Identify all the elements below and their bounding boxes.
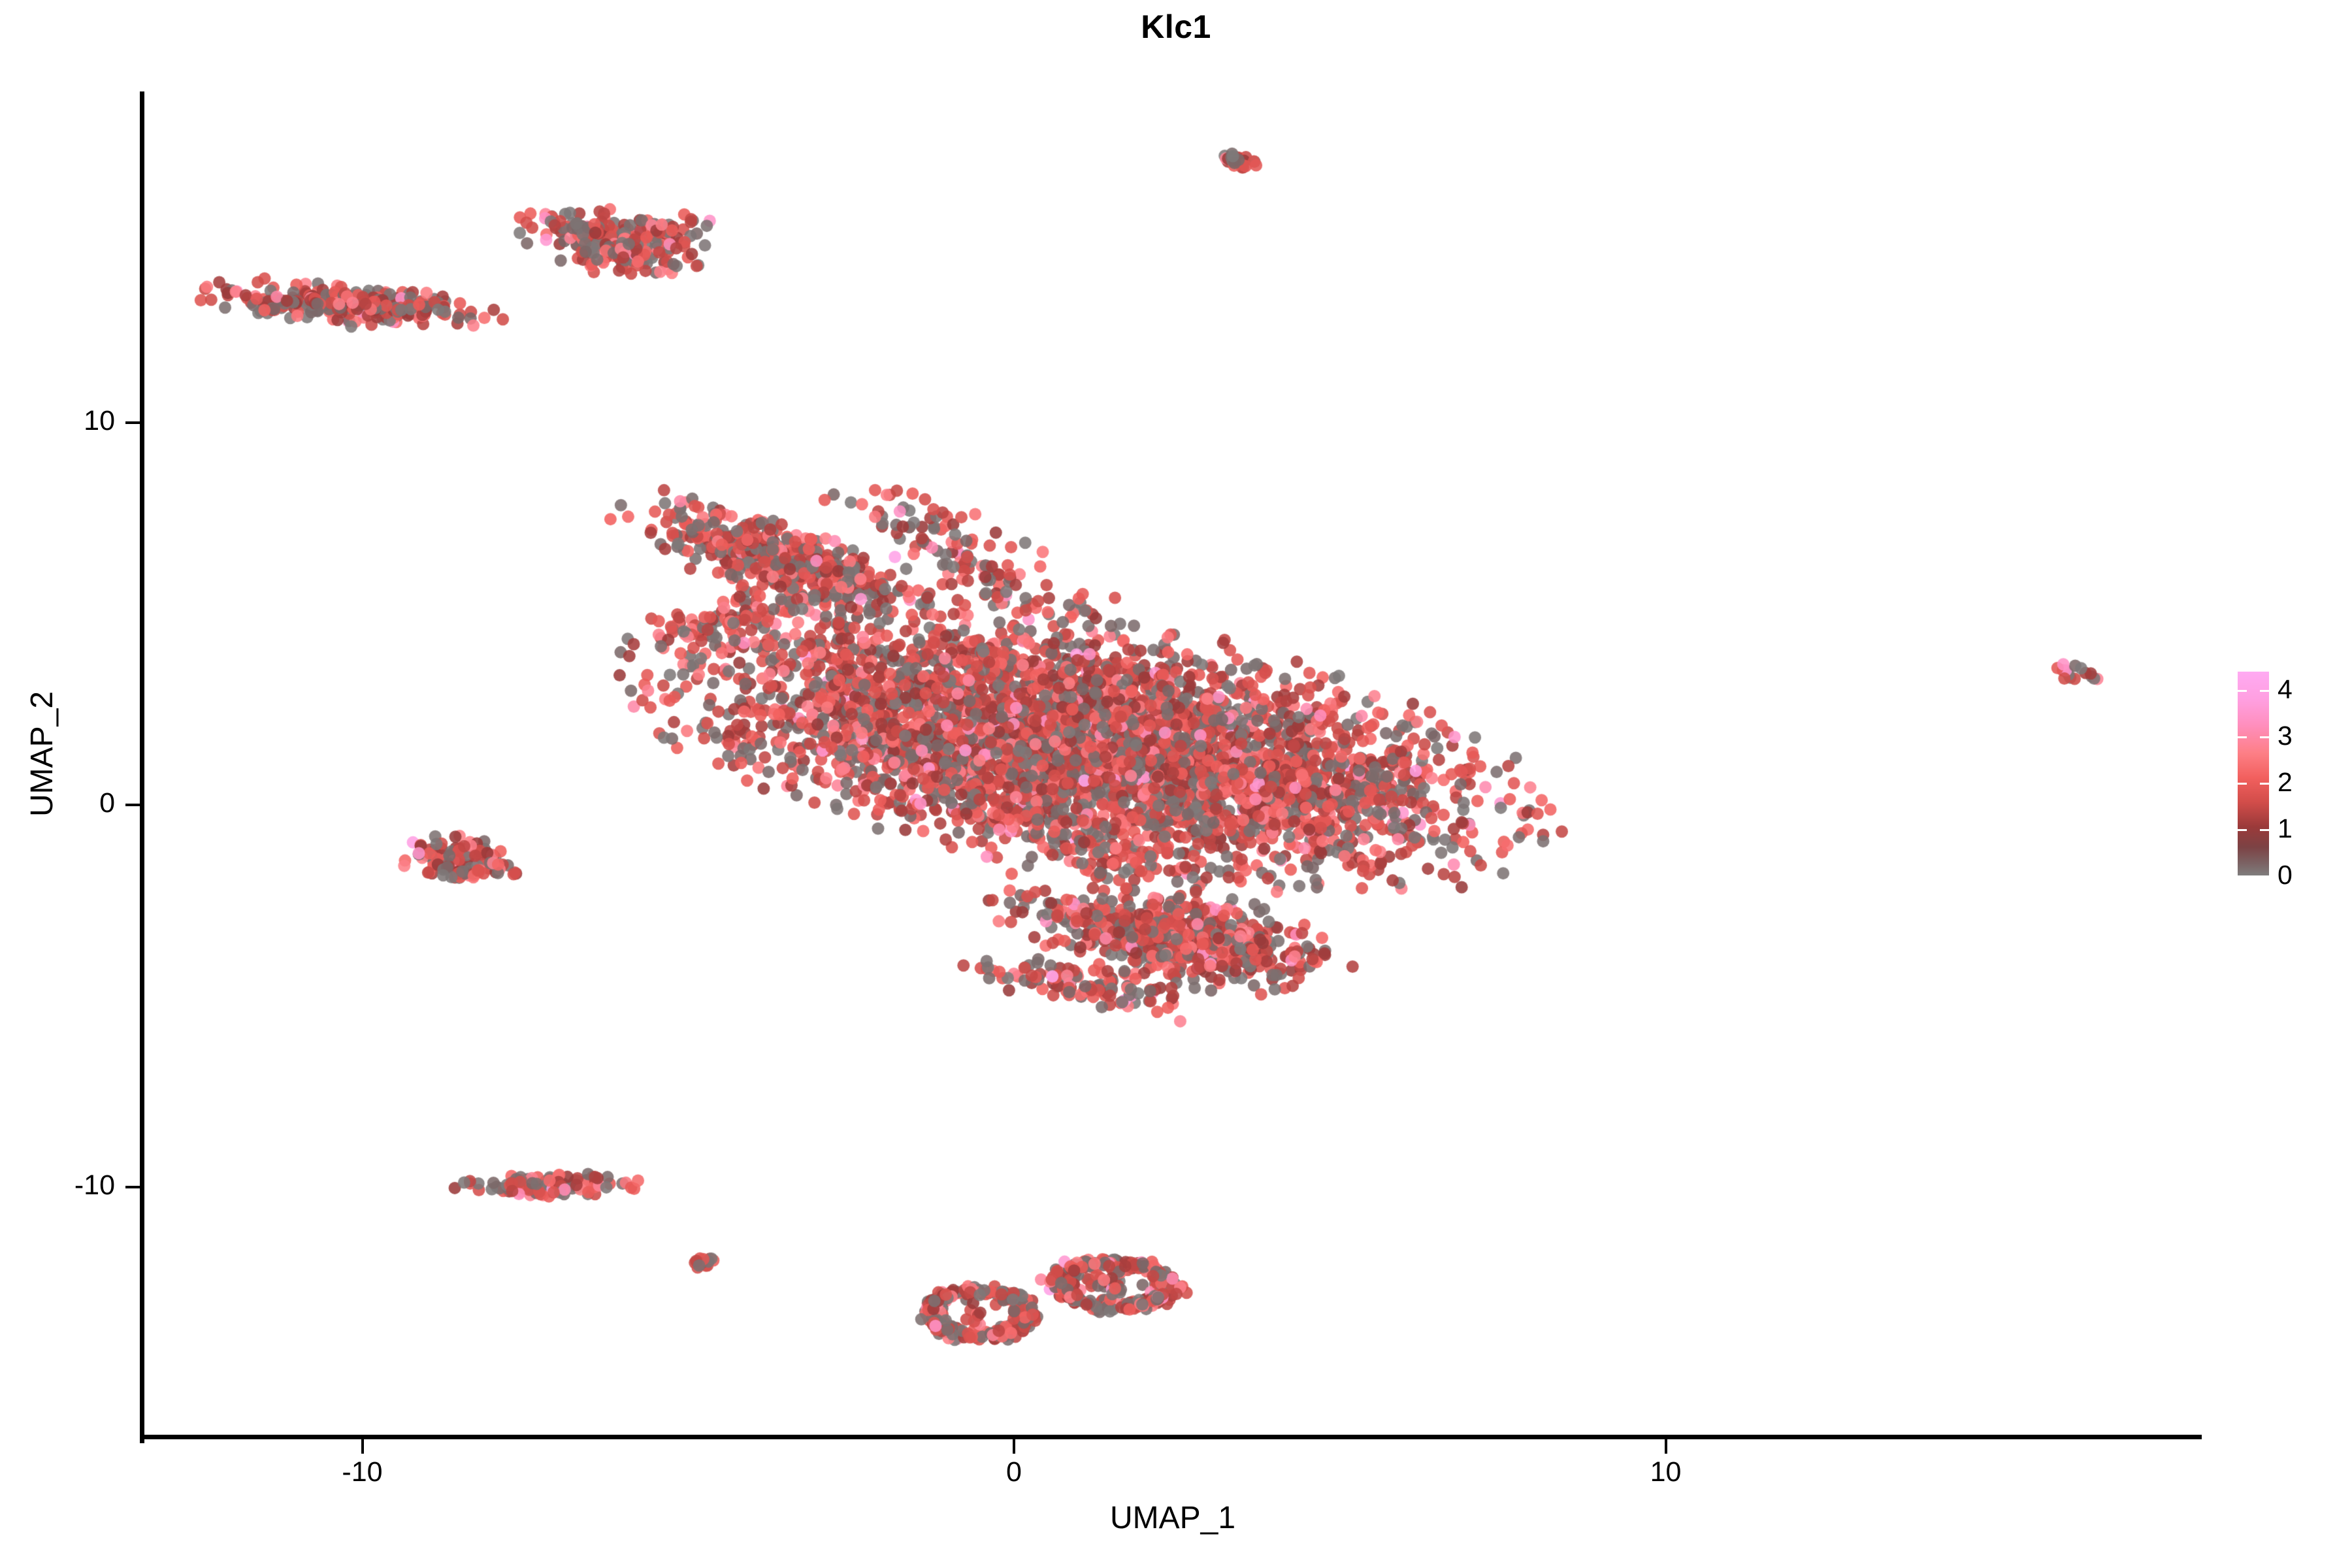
legend-tick-mark bbox=[2238, 690, 2247, 692]
plot-panel bbox=[144, 91, 2202, 1439]
legend-label: 0 bbox=[2278, 862, 2330, 889]
legend-label: 3 bbox=[2278, 723, 2330, 749]
y-tick-mark bbox=[125, 421, 140, 424]
legend-colorbar bbox=[2238, 672, 2269, 875]
legend-tick-mark bbox=[2238, 736, 2247, 738]
legend-tick-mark bbox=[2238, 875, 2247, 877]
legend-tick-mark bbox=[2260, 690, 2269, 692]
legend-tick-mark bbox=[2260, 736, 2269, 738]
legend-tick-mark bbox=[2238, 783, 2247, 785]
x-axis-title: UMAP_1 bbox=[144, 1503, 2202, 1534]
x-tick-mark bbox=[1665, 1439, 1667, 1454]
page-title: Klc1 bbox=[0, 10, 2352, 43]
legend-label: 1 bbox=[2278, 815, 2330, 842]
x-tick-label: -10 bbox=[284, 1458, 441, 1486]
scatter-points-layer bbox=[144, 91, 2202, 1439]
y-tick-mark bbox=[125, 1186, 140, 1188]
y-axis-title: UMAP_2 bbox=[27, 493, 58, 1015]
legend-label: 4 bbox=[2278, 676, 2330, 703]
legend-tick-mark bbox=[2238, 829, 2247, 831]
legend-tick-mark bbox=[2260, 875, 2269, 877]
legend-tick-mark bbox=[2260, 783, 2269, 785]
y-tick-label: -10 bbox=[0, 1171, 115, 1200]
legend-label: 2 bbox=[2278, 769, 2330, 796]
legend-tick-mark bbox=[2260, 829, 2269, 831]
y-tick-mark bbox=[125, 804, 140, 806]
x-axis-line bbox=[140, 1435, 2202, 1439]
x-tick-label: 0 bbox=[936, 1458, 1092, 1486]
umap-feature-plot: Klc1 -10010 100-10 UMAP_1 UMAP_2 43210 bbox=[0, 0, 2352, 1568]
color-legend: 43210 bbox=[2234, 666, 2345, 882]
x-tick-label: 10 bbox=[1588, 1458, 1744, 1486]
y-axis-line bbox=[140, 91, 144, 1443]
x-tick-mark bbox=[361, 1439, 364, 1454]
x-tick-mark bbox=[1013, 1439, 1015, 1454]
y-tick-label: 10 bbox=[0, 407, 115, 435]
